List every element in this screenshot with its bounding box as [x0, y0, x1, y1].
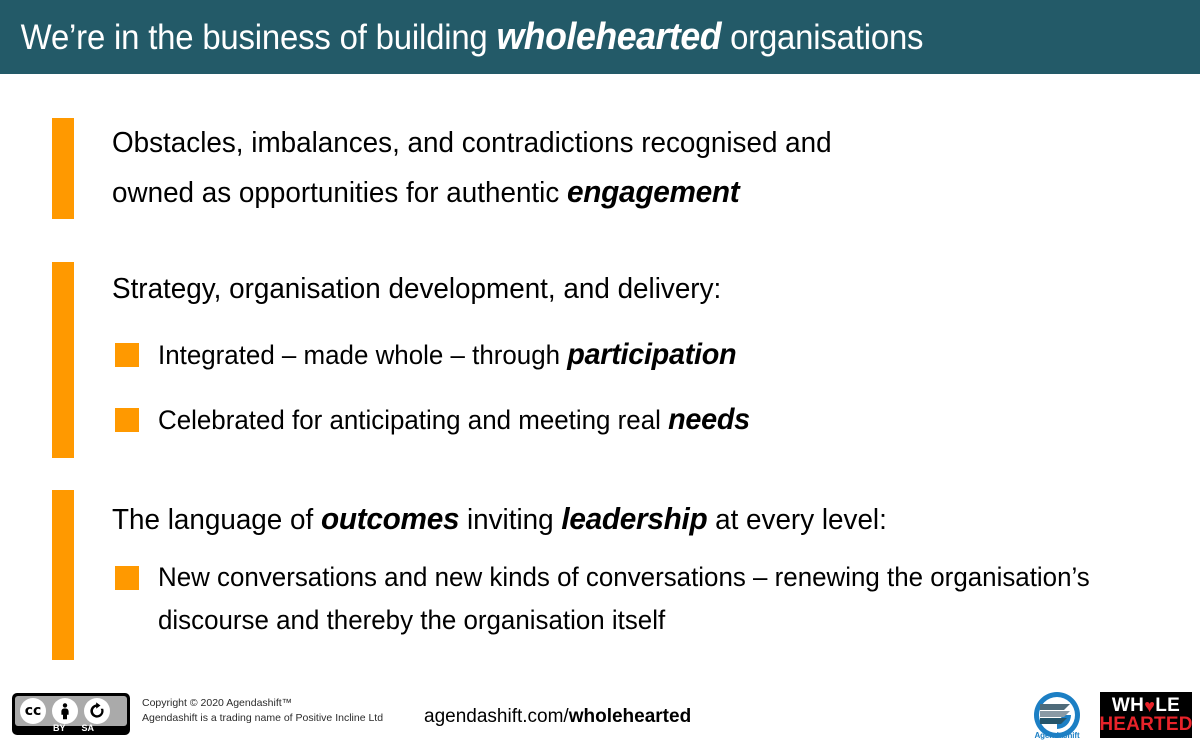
accent-bar-3: [52, 490, 74, 660]
block-2-item-2-text: Celebrated for anticipating and meeting …: [158, 396, 750, 443]
block-3-item-1-text: New conversations and new kinds of conve…: [158, 556, 1128, 641]
slide-header-band: We’re in the business of building wholeh…: [0, 0, 1200, 74]
block-1-lead-emphasis: engagement: [567, 174, 739, 209]
block-2-lead-text: Strategy, organisation development, and …: [112, 273, 721, 305]
footer-url-prefix: agendashift.com/: [424, 706, 569, 727]
wholehearted-logo-row-1: WH♥LE: [1112, 696, 1180, 715]
content-block-2: Strategy, organisation development, and …: [112, 266, 775, 462]
cc-by-label: BY: [53, 723, 66, 734]
wholehearted-logo-le: LE: [1155, 696, 1180, 715]
block-1-lead-text: owned as opportunities for authentic: [112, 177, 567, 209]
bullet-square-icon: [115, 343, 139, 367]
footer-url[interactable]: agendashift.com/wholehearted: [424, 706, 691, 728]
cc-logo-text: cc: [25, 704, 42, 718]
creative-commons-badge-icon[interactable]: cc BY SA: [12, 693, 130, 735]
wholehearted-logo: WH♥LE HEARTED: [1100, 692, 1192, 738]
block-3-lead-part3: at every level:: [707, 504, 887, 536]
copyright-line-2: Agendashift is a trading name of Positiv…: [142, 711, 383, 726]
wholehearted-logo-row-2: HEARTED: [1099, 715, 1192, 735]
title-emphasis: wholehearted: [496, 16, 721, 58]
wholehearted-logo-wh: WH: [1112, 696, 1144, 715]
block-3-lead: The language of outcomes inviting leader…: [112, 494, 1126, 544]
block-2-lead: Strategy, organisation development, and …: [112, 266, 748, 313]
block-1-lead: Obstacles, imbalances, and contradiction…: [112, 120, 832, 217]
heart-icon: ♥: [1144, 697, 1155, 715]
accent-bar-1: [52, 118, 74, 219]
block-2-item-2-before: Celebrated for anticipating and meeting …: [158, 405, 668, 435]
list-item: New conversations and new kinds of conve…: [112, 556, 1168, 641]
block-3-sub-list: New conversations and new kinds of conve…: [112, 556, 1168, 641]
cc-logo-icon: cc: [20, 698, 46, 724]
block-3-lead-part2: inviting: [459, 504, 561, 536]
block-3-lead-part1: The language of: [112, 504, 321, 536]
slide-body: Obstacles, imbalances, and contradiction…: [0, 74, 1200, 674]
list-item: Integrated – made whole – through partic…: [112, 331, 775, 378]
bullet-square-icon: [115, 566, 139, 590]
list-item: Celebrated for anticipating and meeting …: [112, 396, 775, 443]
block-1-lead-line1: Obstacles, imbalances, and contradiction…: [112, 120, 832, 167]
cc-by-person-icon: [52, 698, 78, 724]
block-2-item-1-emphasis: participation: [567, 338, 736, 371]
block-2-item-1-before: Integrated – made whole – through: [158, 340, 567, 370]
block-3-lead-emphasis-1: outcomes: [321, 501, 459, 536]
agendashift-logo-label: Agendashift: [1026, 731, 1088, 740]
page-title: We’re in the business of building wholeh…: [0, 18, 923, 56]
block-2-item-1-text: Integrated – made whole – through partic…: [158, 331, 750, 378]
accent-bar-2: [52, 262, 74, 458]
cc-badge-labels: BY SA: [15, 723, 127, 734]
slide-footer: cc BY SA Copyright © 2020 Agendashift™ A…: [0, 674, 1200, 750]
footer-url-path: wholehearted: [569, 706, 691, 727]
cc-badge-inner: cc: [15, 696, 127, 726]
cc-sa-label: SA: [82, 723, 95, 734]
bullet-square-icon: [115, 408, 139, 432]
content-block-3: The language of outcomes inviting leader…: [112, 494, 1168, 660]
content-block-1: Obstacles, imbalances, and contradiction…: [112, 120, 862, 217]
copyright-notice: Copyright © 2020 Agendashift™ Agendashif…: [142, 696, 383, 726]
title-prefix: We’re in the business of building: [21, 18, 497, 57]
block-1-lead-line2: owned as opportunities for authentic eng…: [112, 167, 832, 217]
block-2-sub-list: Integrated – made whole – through partic…: [112, 331, 775, 444]
block-2-item-2-emphasis: needs: [668, 403, 750, 436]
block-3-lead-emphasis-2: leadership: [561, 501, 707, 536]
cc-sa-share-alike-icon: [84, 698, 110, 724]
title-suffix: organisations: [721, 18, 923, 57]
copyright-line-1: Copyright © 2020 Agendashift™: [142, 696, 383, 711]
